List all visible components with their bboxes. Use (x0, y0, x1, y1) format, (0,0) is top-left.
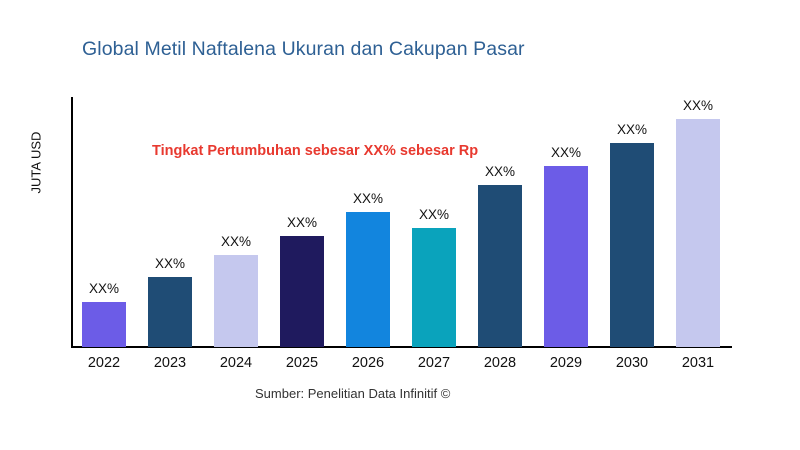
bar-value-label: XX% (221, 234, 251, 249)
bar-2031[interactable]: XX% (676, 119, 720, 347)
bar-rect[interactable] (148, 277, 192, 347)
x-tick-label-2028: 2028 (467, 355, 533, 371)
bars-container: XX%2022XX%2023XX%2024XX%2025XX%2026XX%20… (0, 0, 800, 450)
x-tick-label-2022: 2022 (71, 355, 137, 371)
bar-value-label: XX% (617, 122, 647, 137)
x-tick-label-2030: 2030 (599, 355, 665, 371)
source-note: Sumber: Penelitian Data Infinitif © (255, 386, 450, 401)
bar-rect[interactable] (280, 236, 324, 347)
bar-2022[interactable]: XX% (82, 302, 126, 347)
bar-2029[interactable]: XX% (544, 166, 588, 347)
bar-2027[interactable]: XX% (412, 228, 456, 347)
x-tick-label-2025: 2025 (269, 355, 335, 371)
bar-rect[interactable] (82, 302, 126, 347)
bar-value-label: XX% (89, 281, 119, 296)
bar-rect[interactable] (346, 212, 390, 347)
bar-value-label: XX% (485, 164, 515, 179)
x-tick-label-2023: 2023 (137, 355, 203, 371)
bar-value-label: XX% (155, 256, 185, 271)
bar-2028[interactable]: XX% (478, 185, 522, 347)
bar-rect[interactable] (676, 119, 720, 347)
bar-value-label: XX% (683, 98, 713, 113)
bar-rect[interactable] (610, 143, 654, 347)
bar-rect[interactable] (412, 228, 456, 347)
bar-rect[interactable] (478, 185, 522, 347)
bar-value-label: XX% (419, 207, 449, 222)
bar-value-label: XX% (287, 215, 317, 230)
bar-2023[interactable]: XX% (148, 277, 192, 347)
x-tick-label-2031: 2031 (665, 355, 731, 371)
bar-rect[interactable] (544, 166, 588, 347)
bar-2024[interactable]: XX% (214, 255, 258, 347)
chart-figure: Global Metil Naftalena Ukuran dan Cakupa… (0, 0, 800, 450)
bar-value-label: XX% (551, 145, 581, 160)
x-tick-label-2027: 2027 (401, 355, 467, 371)
x-tick-label-2024: 2024 (203, 355, 269, 371)
bar-value-label: XX% (353, 191, 383, 206)
bar-2025[interactable]: XX% (280, 236, 324, 347)
x-tick-label-2026: 2026 (335, 355, 401, 371)
bar-2030[interactable]: XX% (610, 143, 654, 347)
bar-rect[interactable] (214, 255, 258, 347)
bar-2026[interactable]: XX% (346, 212, 390, 347)
x-tick-label-2029: 2029 (533, 355, 599, 371)
